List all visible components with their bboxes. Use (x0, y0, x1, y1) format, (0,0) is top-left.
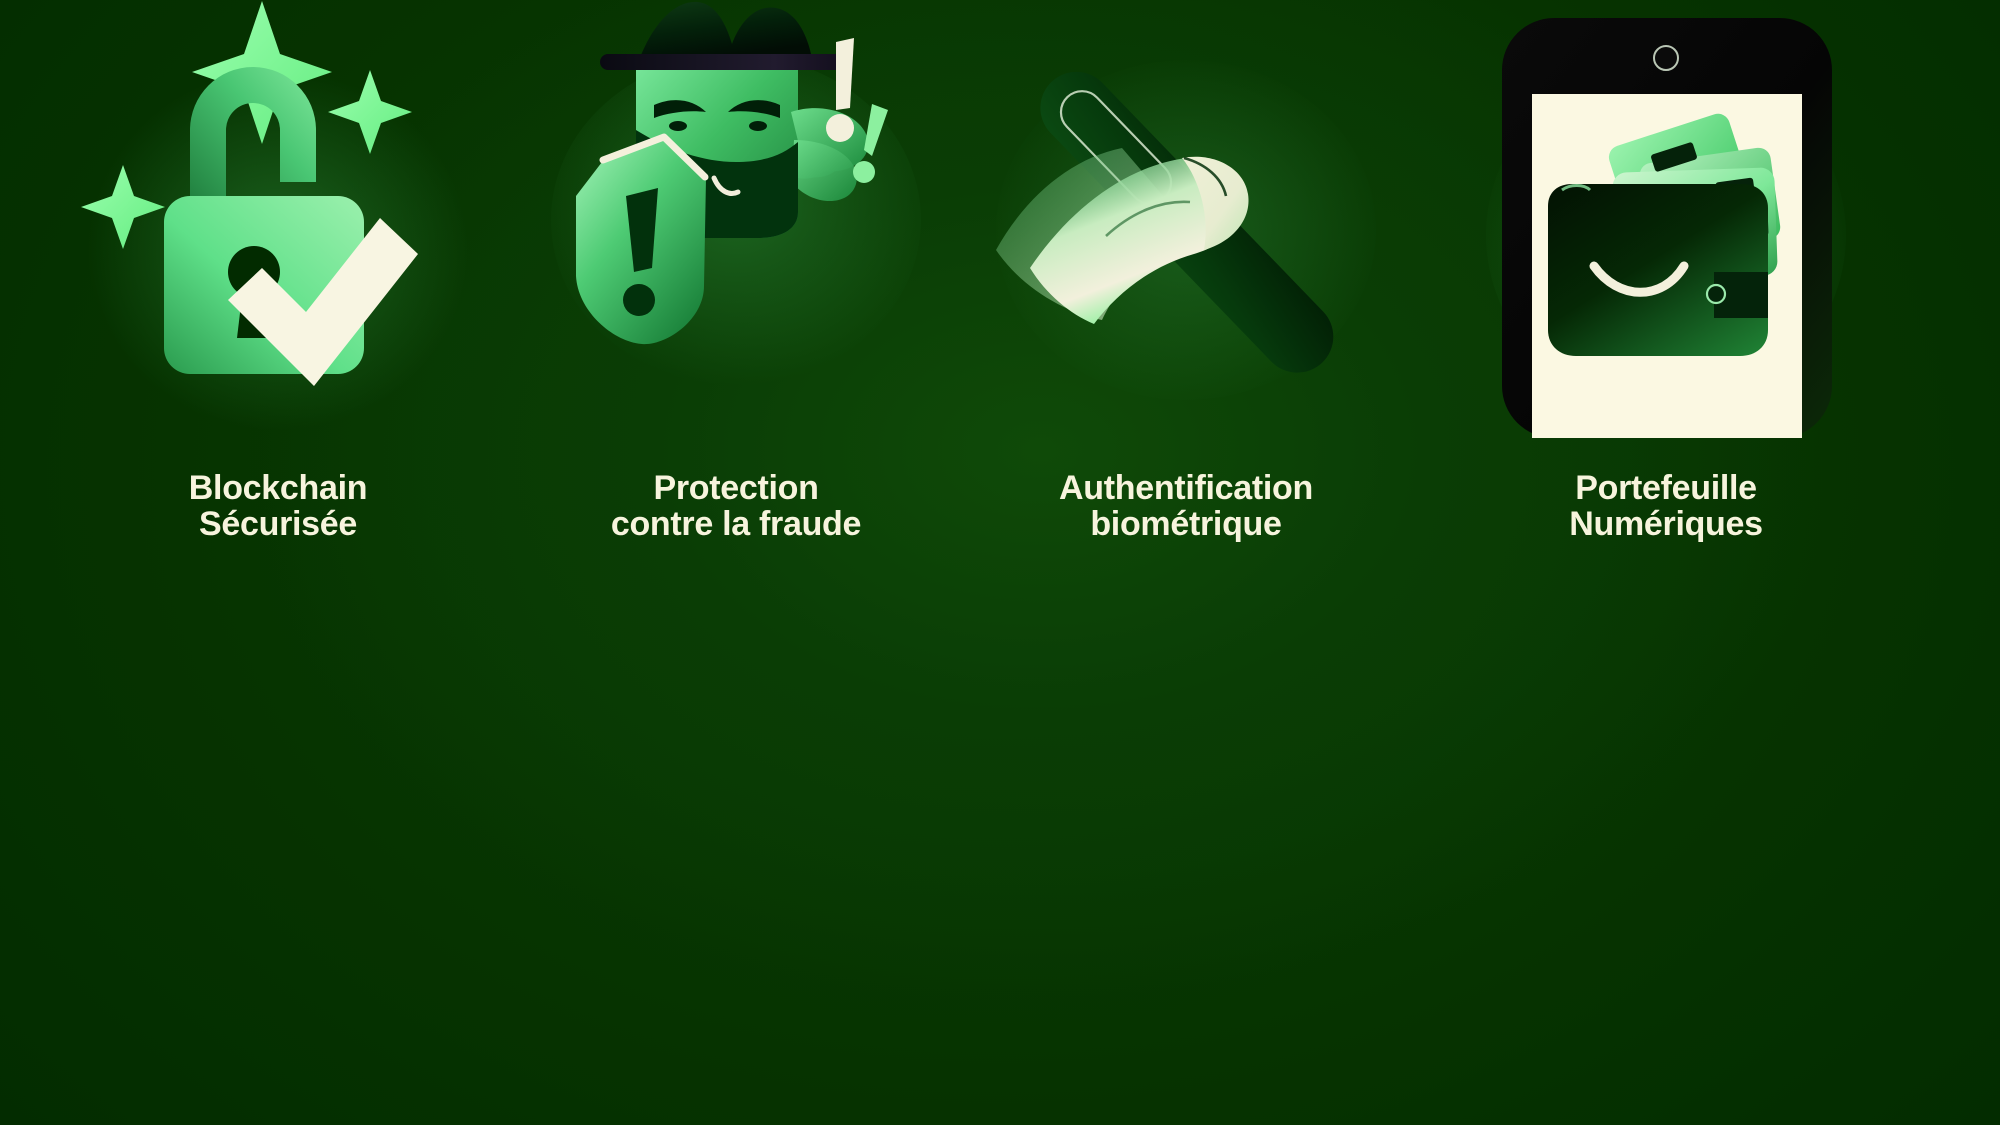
feature-item-blockchain[interactable]: Blockchain Sécurisée (58, 0, 498, 542)
feature-item-fraud-protection[interactable]: Protection contre la fraude (516, 0, 956, 542)
feature-label-biometric-auth: Authentification biométrique (1059, 470, 1313, 542)
page-root: Blockchain Sécurisée (0, 0, 2000, 1125)
phone-wallet-cards-icon (1466, 0, 1866, 470)
feature-label-blockchain: Blockchain Sécurisée (189, 470, 367, 542)
fingerprint-scanner-finger-icon (986, 0, 1386, 470)
feature-item-biometric-auth[interactable]: Authentification biométrique (966, 0, 1406, 542)
feature-list: Blockchain Sécurisée (0, 0, 2000, 760)
masked-thief-shield-alert-icon (536, 0, 936, 470)
feature-label-digital-wallet: Portefeuille Numériques (1569, 470, 1763, 542)
feature-label-fraud-protection: Protection contre la fraude (611, 470, 861, 542)
padlock-check-sparkles-icon (78, 0, 478, 470)
feature-item-digital-wallet[interactable]: Portefeuille Numériques (1446, 0, 1886, 542)
